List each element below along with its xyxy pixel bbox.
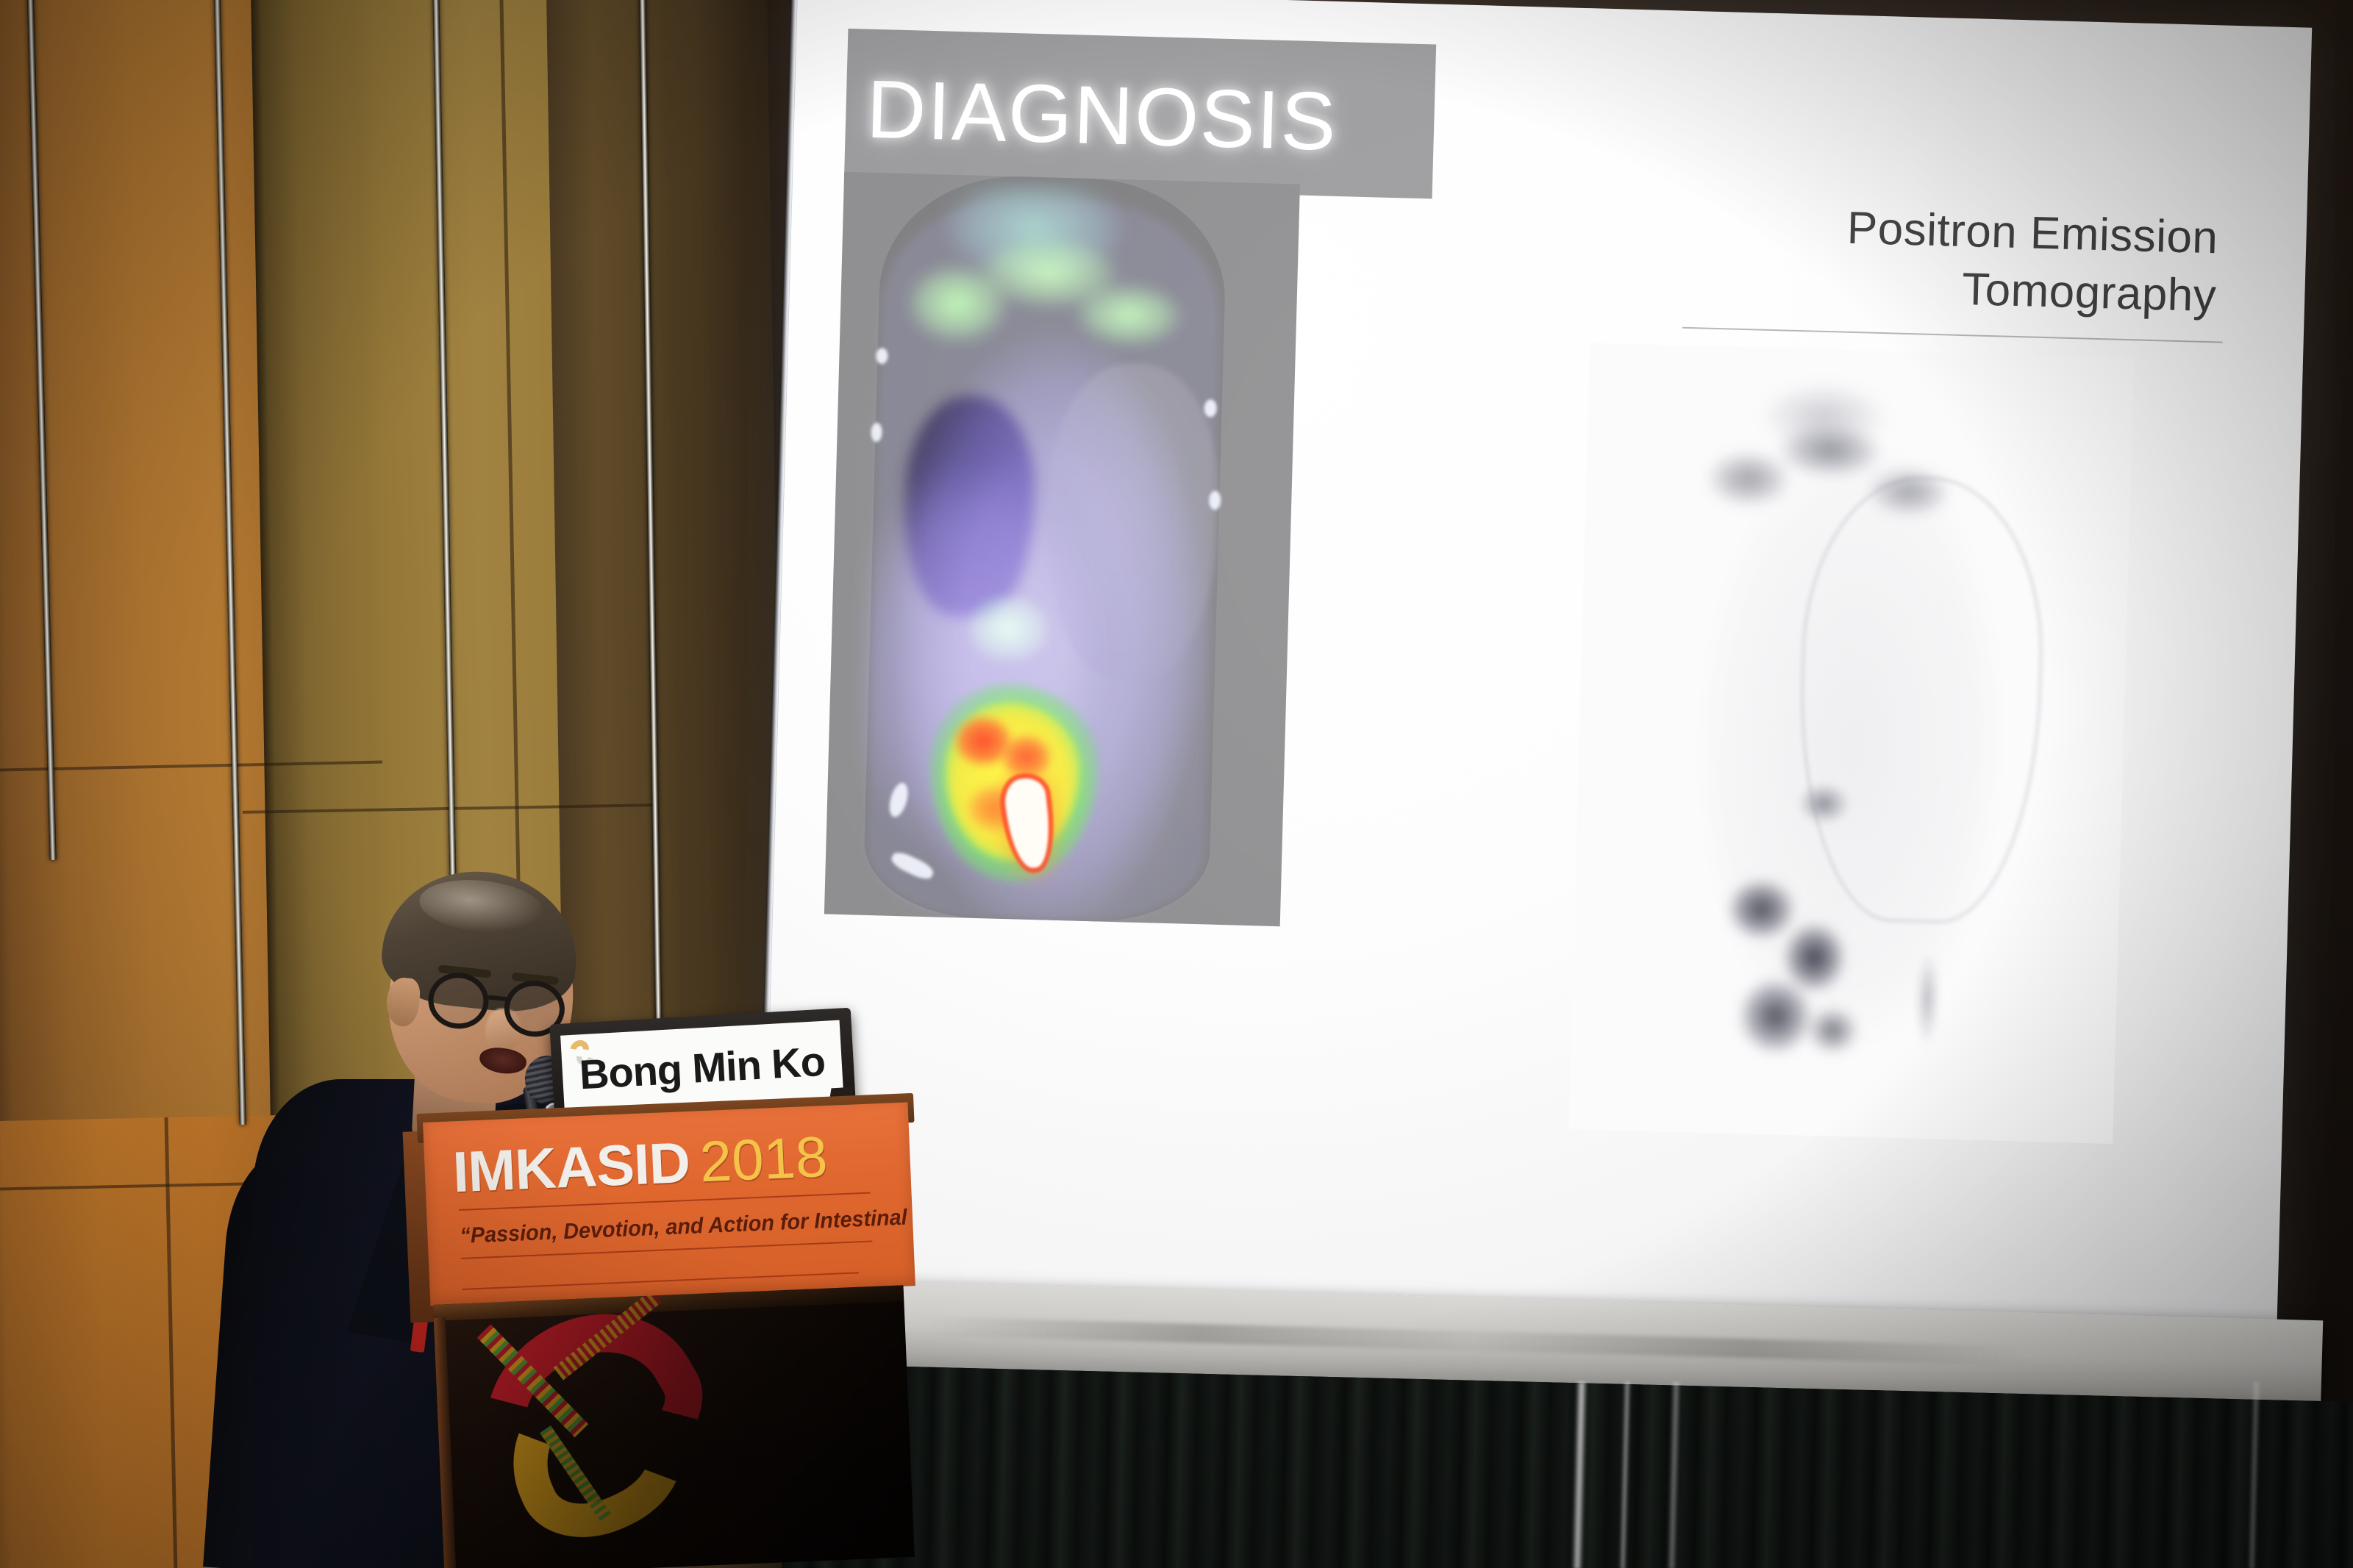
mip-mid-focus [1798,782,1850,825]
slide-subheading: Positron Emission Tomography [1657,194,2219,326]
pet-mid-focus [967,595,1049,663]
pet-hot-lesion [926,681,1101,884]
presentation-photo-stage: DIAGNOSIS Positron Emission Tomography [0,0,2353,1568]
lectern-title: IMKASID2018 [451,1123,829,1206]
lectern-year: 2018 [699,1124,829,1194]
mip-lesion-uptake [1706,861,1881,1078]
lectern-brand: IMKASID [451,1130,691,1204]
lectern-rule-bottom [463,1272,860,1290]
projection-screen: DIAGNOSIS Positron Emission Tomography [763,0,2312,1332]
lectern: IMKASID2018 “Passion, Devotion, and Acti… [423,1123,908,1568]
pet-ct-fusion-image [824,172,1300,926]
bone-marker [1209,490,1221,509]
speaker-name-label: Bong Min Ko [561,1037,843,1100]
mip-chest-uptake [1690,375,2004,596]
slide-title-band: DIAGNOSIS [844,29,1436,199]
lectern-front-panel: IMKASID2018 “Passion, Devotion, and Acti… [423,1102,915,1306]
mip-ureter-activity [1917,955,1938,1044]
screen-surface: DIAGNOSIS Positron Emission Tomography [763,0,2312,1332]
lectern-base-shadow [433,1285,915,1568]
presentation-slide: DIAGNOSIS Positron Emission Tomography [763,0,2312,1332]
slide-title: DIAGNOSIS [865,62,1339,169]
subheading-underline [1682,327,2223,343]
lectern-base [433,1285,915,1568]
valance-smudge [921,1317,2024,1366]
pet-mip-image [1568,343,2134,1144]
pet-chest-uptake [884,180,1213,409]
